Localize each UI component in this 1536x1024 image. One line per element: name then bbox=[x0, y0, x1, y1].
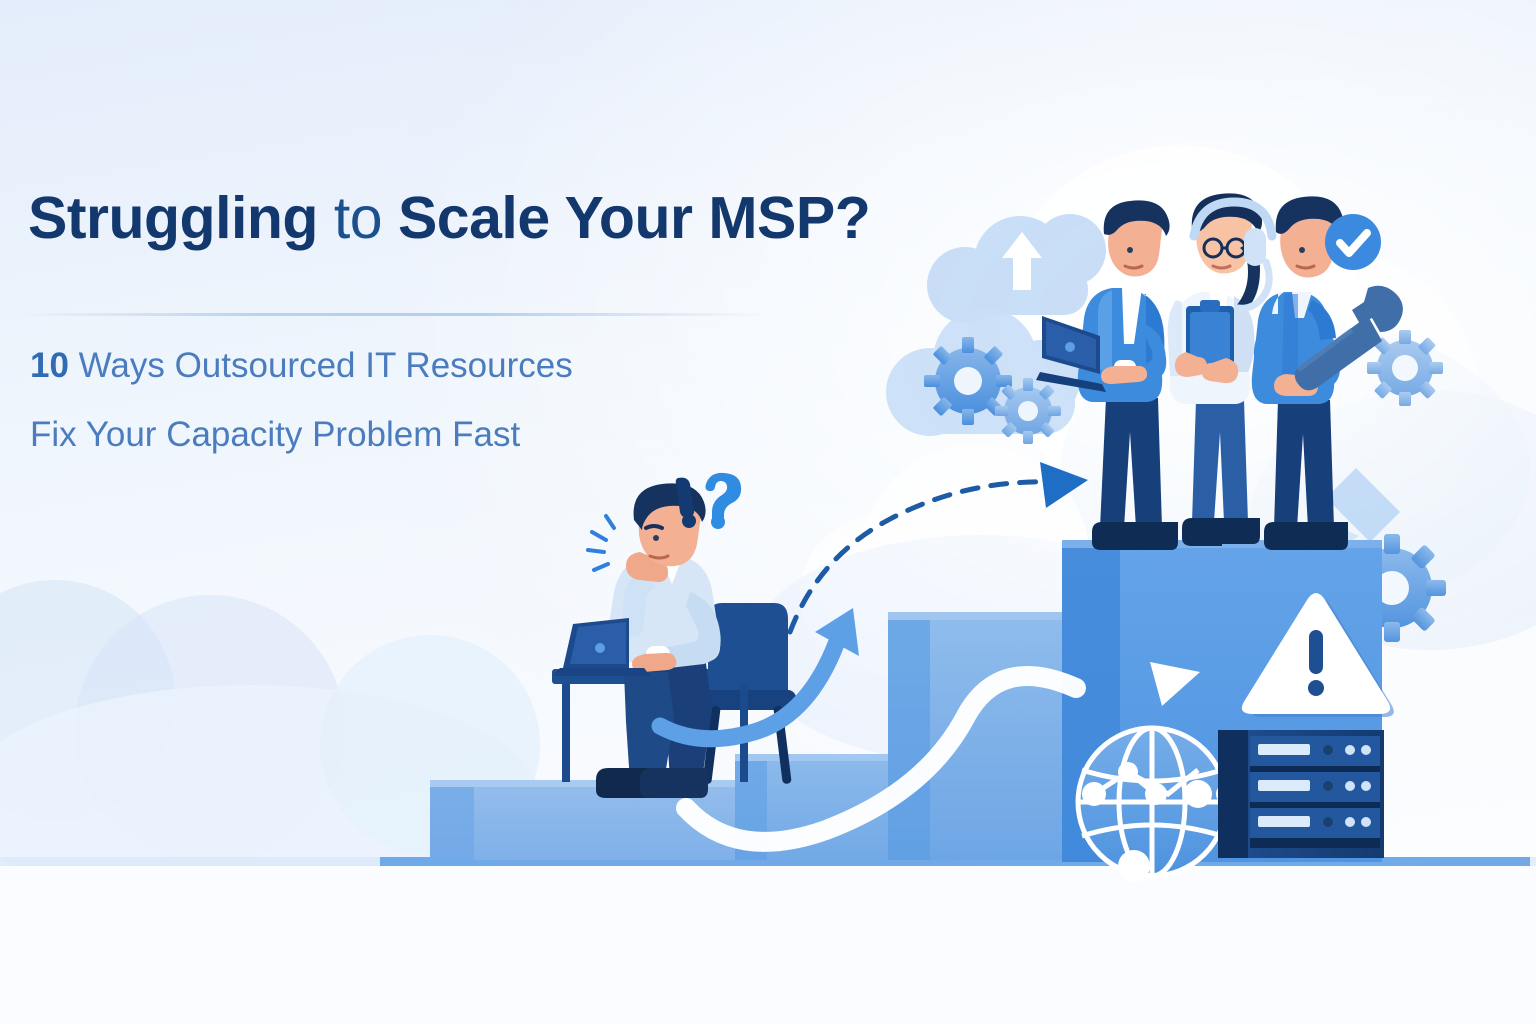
server-unit bbox=[1250, 736, 1380, 772]
stressed-worker bbox=[552, 483, 796, 798]
dashed-growth-arrow bbox=[790, 462, 1088, 632]
subtitle-line-1: 10 Ways Outsourced IT Resources bbox=[30, 348, 573, 383]
server-unit bbox=[1250, 808, 1380, 848]
subtitle-line-1-text: Ways Outsourced IT Resources bbox=[69, 346, 573, 385]
stress-marks bbox=[676, 473, 741, 529]
hero-banner: Struggling to Scale Your MSP? 10 Ways Ou… bbox=[0, 0, 1536, 1024]
verified-check-badge bbox=[1325, 214, 1381, 270]
subtitle-line-2: Fix Your Capacity Problem Fast bbox=[30, 417, 520, 452]
gear-icon bbox=[995, 378, 1061, 444]
stress-lines bbox=[588, 516, 614, 570]
title-bold-part-1: Struggling bbox=[28, 185, 318, 251]
subtitle-number: 10 bbox=[30, 346, 69, 385]
question-mark-icon bbox=[705, 473, 741, 529]
server-rack bbox=[1218, 730, 1384, 858]
page-title: Struggling to Scale Your MSP? bbox=[28, 188, 988, 249]
title-bold-part-2: Scale Your MSP? bbox=[398, 185, 870, 251]
title-light-part: to bbox=[318, 185, 398, 251]
illustration-layer bbox=[0, 0, 1536, 1024]
title-divider bbox=[20, 313, 765, 316]
hero-text-block: Struggling to Scale Your MSP? 10 Ways Ou… bbox=[28, 188, 988, 249]
server-unit bbox=[1250, 772, 1380, 808]
